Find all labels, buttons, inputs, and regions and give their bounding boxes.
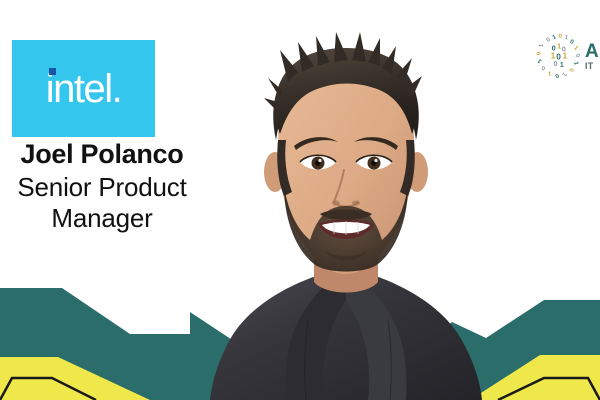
right-diamond-outline xyxy=(498,378,600,400)
svg-text:1: 1 xyxy=(539,43,545,47)
svg-text:0: 0 xyxy=(556,53,561,62)
speaker-name: Joel Polanco xyxy=(0,140,252,169)
svg-text:1: 1 xyxy=(564,35,569,41)
svg-text:1: 1 xyxy=(536,57,543,64)
svg-text:0: 0 xyxy=(553,72,559,78)
speaker-text-block: Joel Polanco Senior Product Manager xyxy=(0,140,252,234)
svg-text:1: 1 xyxy=(572,61,579,66)
left-yellow-diamond xyxy=(0,357,150,400)
brand-text: A IT xyxy=(585,40,598,71)
speaker-role-line-1: Senior Product xyxy=(0,172,252,203)
left-diamond-outline xyxy=(0,378,96,400)
svg-text:0: 0 xyxy=(574,53,581,59)
svg-text:1: 1 xyxy=(560,71,567,78)
svg-text:1: 1 xyxy=(547,70,551,76)
svg-text:1: 1 xyxy=(552,34,558,41)
svg-text:1: 1 xyxy=(563,52,568,61)
svg-text:0: 0 xyxy=(552,43,556,52)
svg-text:0: 0 xyxy=(545,37,552,44)
binary-sphere-icon: 0 1 0 1 0 1 0 1 0 1 0 1 0 1 0 1 0 1 0 1 xyxy=(536,32,582,78)
speaker-card: intel. Joel Polanco Senior Product Manag… xyxy=(0,0,600,400)
svg-text:0: 0 xyxy=(553,61,557,68)
intel-logo: intel. xyxy=(12,40,155,137)
brand-main-text: A xyxy=(585,42,598,61)
svg-text:1: 1 xyxy=(557,42,561,51)
svg-text:0: 0 xyxy=(569,39,575,46)
intel-i-dot xyxy=(49,68,56,75)
svg-text:0: 0 xyxy=(567,67,574,72)
svg-text:0: 0 xyxy=(536,50,543,56)
svg-text:1: 1 xyxy=(551,52,556,61)
intel-wordmark-period: . xyxy=(112,67,122,111)
svg-text:0: 0 xyxy=(558,33,563,40)
svg-text:0: 0 xyxy=(541,64,547,71)
brand-sub-text: IT xyxy=(585,62,598,71)
brand-lockup: 0 1 0 1 0 1 0 1 0 1 0 1 0 1 0 1 0 1 0 1 xyxy=(536,30,600,80)
right-yellow-wedge xyxy=(500,370,600,400)
speaker-role: Senior Product Manager xyxy=(0,172,252,233)
svg-text:1: 1 xyxy=(560,62,564,69)
speaker-role-line-2: Manager xyxy=(0,203,252,234)
svg-text:1: 1 xyxy=(572,45,579,52)
intel-wordmark: intel. xyxy=(46,69,122,109)
left-yellow-wedge xyxy=(0,372,118,400)
